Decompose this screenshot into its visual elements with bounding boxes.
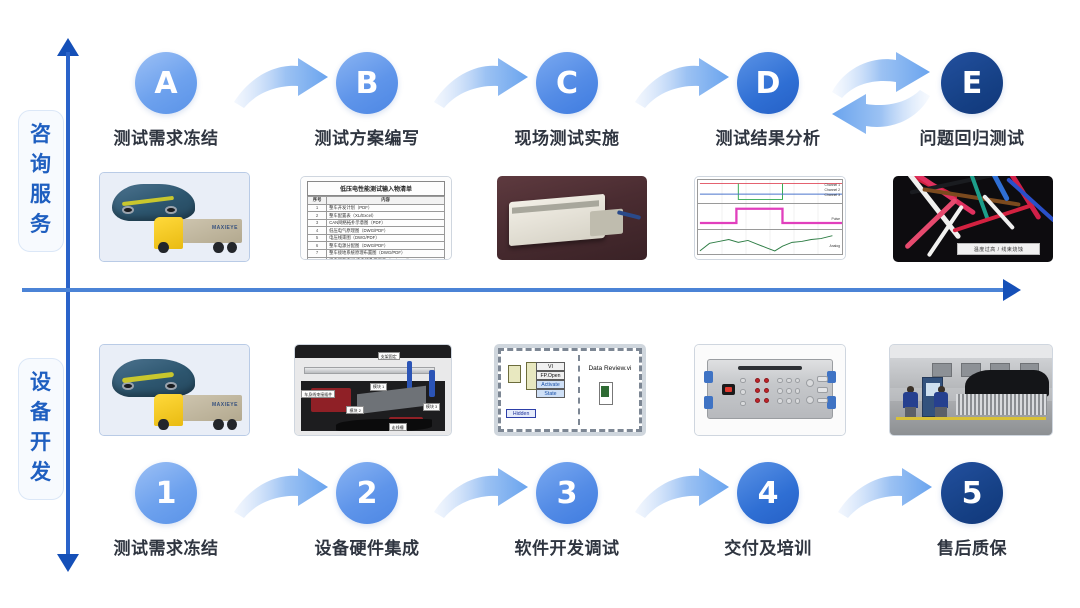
vehicle-illustration-top: MAXIEYE xyxy=(99,172,250,262)
waveform-panel-pulse: Pulse xyxy=(697,204,843,230)
input-checklist-document: 低压电性能测试输入物清单 序号 内容 1整车开发计划（PDF） 2整车配置表（X… xyxy=(300,176,452,260)
legend-entry: Channel 3 xyxy=(825,193,840,198)
step-1[interactable]: 1 测试需求冻结 xyxy=(96,462,236,559)
waveform-panel-analog: Analog xyxy=(697,230,843,256)
document-title: 低压电性能测试输入物清单 xyxy=(307,181,445,196)
worker-figure xyxy=(934,386,949,417)
doc-cell-num: 8 xyxy=(308,257,327,260)
waveform-legend-status: Channel 1 Channel 2 Channel 3 xyxy=(825,183,840,198)
connector-2-to-3 xyxy=(432,468,530,526)
callout-3: 模块 3 xyxy=(423,403,440,411)
connector-d-to-e-cycle xyxy=(830,52,936,134)
lane-label-consulting-char-1: 询 xyxy=(19,150,63,180)
table-row: 2整车配置表（XL/Excel） xyxy=(308,212,445,220)
callout-4: 车身线束接插件 xyxy=(301,390,335,398)
waveform-legend-analog: Analog xyxy=(829,244,840,249)
lane-label-equipment-char-1: 备 xyxy=(19,398,63,428)
lane-label-equipment-char-2: 开 xyxy=(19,428,63,458)
step-a-badge: A xyxy=(135,52,197,114)
step-b-label: 测试方案编写 xyxy=(297,124,437,149)
connector-b-to-c xyxy=(432,58,530,116)
doc-cell-text: 电压线束图（DWG/PDF） xyxy=(327,234,445,242)
callout-2: 模块 2 xyxy=(346,406,363,414)
factory-delivery-photo xyxy=(889,344,1053,436)
document-table: 序号 内容 1整车开发计划（PDF） 2整车配置表（XL/Excel） 3CAN… xyxy=(307,196,445,260)
callout-1: 模块 1 xyxy=(370,383,387,391)
test-equipment-rack-photo xyxy=(694,344,846,436)
lane-axis xyxy=(66,52,70,562)
doc-cell-num: 3 xyxy=(308,219,327,227)
lane-label-consulting-char-0: 咨 xyxy=(19,120,63,150)
vehicle-illustration-bottom: MAXIEYE xyxy=(99,344,250,436)
timeline-axis xyxy=(22,288,1007,292)
lane-label-consulting-char-3: 务 xyxy=(19,210,63,240)
doc-cell-text: 用电器静态/动态电流及工作表（XL/Excel） xyxy=(327,257,445,260)
document-col-0: 序号 xyxy=(308,197,327,205)
labview-subvi-title: Data Review.vi xyxy=(588,365,631,372)
lane-label-equipment-char-0: 设 xyxy=(19,368,63,398)
labview-subvi-icon xyxy=(599,382,613,406)
step-1-label: 测试需求冻结 xyxy=(96,534,236,559)
labview-node-state: State xyxy=(536,389,565,398)
table-row: 7整车接地系统原理布置图（DWG/PDF） xyxy=(308,250,445,258)
labview-hidden-control[interactable]: Hidden xyxy=(506,409,535,418)
doc-cell-num: 7 xyxy=(308,250,327,258)
step-c-label: 现场测试实施 xyxy=(497,124,637,149)
wire-harness-caption: 温度过高 / 线束烧蚀 xyxy=(957,243,1040,255)
step-e-badge: E xyxy=(941,52,1003,114)
doc-cell-text: 整车开发计划（PDF） xyxy=(327,204,445,212)
step-d-label: 测试结果分析 xyxy=(698,124,838,149)
callout-0: 支架固定 xyxy=(378,352,400,360)
table-row: 1整车开发计划（PDF） xyxy=(308,204,445,212)
table-row: 8用电器静态/动态电流及工作表（XL/Excel） xyxy=(308,257,445,260)
table-row: 3CAN网络拓扑示意图（PDF） xyxy=(308,219,445,227)
step-5-label: 售后质保 xyxy=(902,534,1042,559)
labview-node-activate: Activate xyxy=(536,380,565,389)
waveform-legend-pulse: Pulse xyxy=(832,217,840,222)
connector-a-to-b xyxy=(232,58,330,116)
connector-4-to-5 xyxy=(836,468,934,526)
step-1-badge: 1 xyxy=(135,462,197,524)
doc-cell-text: 整车接地系统原理布置图（DWG/PDF） xyxy=(327,250,445,258)
step-4-label: 交付及培训 xyxy=(698,534,838,559)
step-2-badge: 2 xyxy=(336,462,398,524)
connector-3-to-4 xyxy=(633,468,731,526)
labview-node-vi: VI xyxy=(536,362,565,371)
doc-cell-text: 低压电气原理图（DWG/PDF） xyxy=(327,227,445,235)
doc-cell-text: 整车电源分配图（DWG/PDF） xyxy=(327,242,445,250)
waveform-panel-status: Channel 1 Channel 2 Channel 3 xyxy=(697,179,843,204)
lane-label-consulting: 咨 询 服 务 xyxy=(18,110,64,252)
document-col-1: 内容 xyxy=(327,197,445,205)
connector-c-to-d xyxy=(633,58,731,116)
step-a[interactable]: A 测试需求冻结 xyxy=(96,52,236,149)
table-row: 6整车电源分配图（DWG/PDF） xyxy=(308,242,445,250)
measurement-waveform-plot: Channel 1 Channel 2 Channel 3 Pulse xyxy=(694,176,846,260)
worker-figure xyxy=(903,386,918,417)
step-3-label: 软件开发调试 xyxy=(497,534,637,559)
step-2-label: 设备硬件集成 xyxy=(297,534,437,559)
connector-1-to-2 xyxy=(232,468,330,526)
legend-entry: Analog xyxy=(829,244,840,249)
doc-cell-num: 5 xyxy=(308,234,327,242)
step-c-badge: C xyxy=(536,52,598,114)
hardware-integration-photo: 支架固定 模块 1 模块 2 模块 3 车身线束接插件 走线槽 xyxy=(294,344,452,436)
step-5-badge: 5 xyxy=(941,462,1003,524)
lane-label-equipment-char-3: 发 xyxy=(19,458,63,488)
onboard-test-instrument-photo xyxy=(497,176,647,260)
timeline-axis-arrow-right xyxy=(1003,279,1021,301)
legend-entry: Pulse xyxy=(832,217,840,222)
doc-cell-num: 6 xyxy=(308,242,327,250)
truck-brand-top: MAXIEYE xyxy=(212,225,238,231)
table-row: 4低压电气原理图（DWG/PDF） xyxy=(308,227,445,235)
labview-block-diagram: VI FP.Open Activate State Hidden Data Re… xyxy=(494,344,646,436)
wire-harness-photo: 温度过高 / 线束烧蚀 xyxy=(893,176,1053,262)
process-diagram: 咨 询 服 务 设 备 开 发 A 测试需求冻结 B 测试方案编写 C 现场测试… xyxy=(0,0,1080,608)
step-b-badge: B xyxy=(336,52,398,114)
doc-cell-num: 2 xyxy=(308,212,327,220)
lane-axis-arrow-down xyxy=(57,554,79,572)
doc-cell-num: 4 xyxy=(308,227,327,235)
doc-cell-text: 整车配置表（XL/Excel） xyxy=(327,212,445,220)
step-d-badge: D xyxy=(737,52,799,114)
doc-cell-num: 1 xyxy=(308,204,327,212)
lane-label-equipment: 设 备 开 发 xyxy=(18,358,64,500)
truck-brand-bottom: MAXIEYE xyxy=(212,402,238,408)
doc-cell-text: CAN网络拓扑示意图（PDF） xyxy=(327,219,445,227)
callout-5: 走线槽 xyxy=(389,423,407,431)
step-3-badge: 3 xyxy=(536,462,598,524)
table-row: 5电压线束图（DWG/PDF） xyxy=(308,234,445,242)
lane-label-consulting-char-2: 服 xyxy=(19,180,63,210)
labview-node-fp-open: FP.Open xyxy=(536,371,565,380)
step-4-badge: 4 xyxy=(737,462,799,524)
step-a-label: 测试需求冻结 xyxy=(96,124,236,149)
